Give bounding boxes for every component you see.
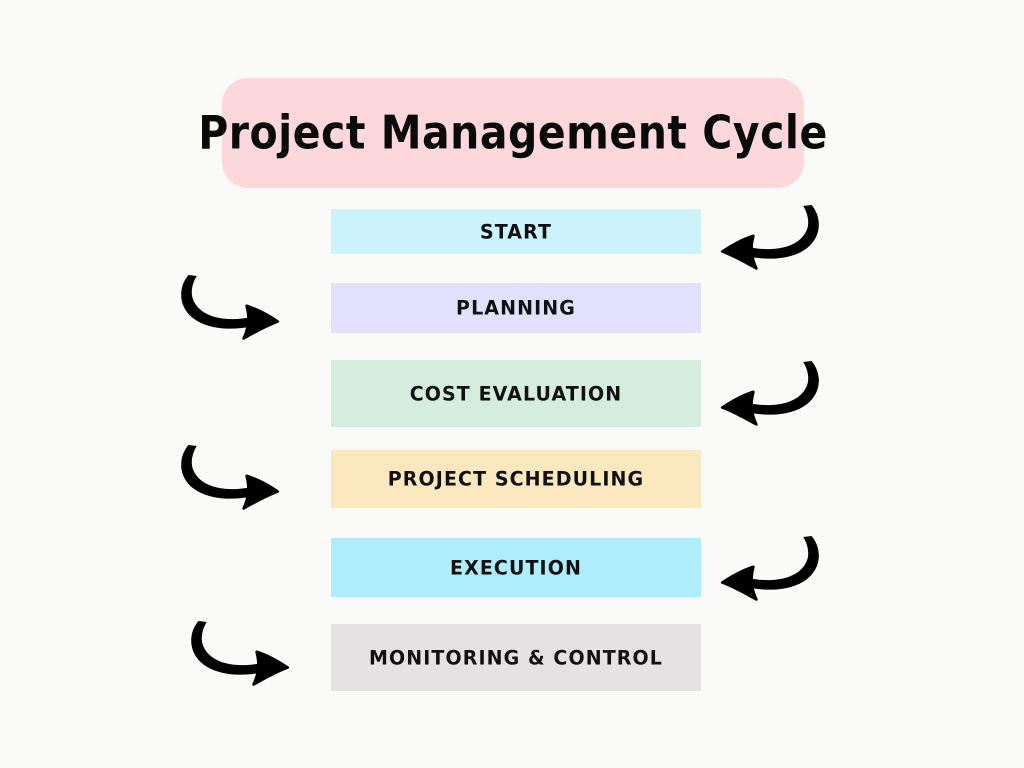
- curved-arrow-right-1-icon: [172, 272, 282, 344]
- process-step-bar[interactable]: START: [331, 209, 701, 254]
- process-step-bar[interactable]: EXECUTION: [331, 538, 701, 597]
- process-step-label: PROJECT SCHEDULING: [388, 467, 644, 490]
- process-step-label: EXECUTION: [450, 556, 582, 579]
- curved-arrow-left-2-icon: [718, 358, 828, 430]
- curved-arrow-left-3-icon: [718, 533, 828, 605]
- infographic-canvas: Project Management Cycle STARTPLANNINGCO…: [0, 0, 1024, 768]
- process-step-bar[interactable]: PROJECT SCHEDULING: [331, 450, 701, 508]
- process-step-label: COST EVALUATION: [410, 382, 623, 405]
- process-step-bar[interactable]: PLANNING: [331, 283, 701, 333]
- title-banner: Project Management Cycle: [222, 78, 804, 188]
- process-step-bar[interactable]: MONITORING & CONTROL: [331, 624, 701, 691]
- page-title: Project Management Cycle: [198, 106, 828, 160]
- process-step-label: START: [480, 220, 552, 243]
- curved-arrow-left-1-icon: [718, 202, 828, 274]
- curved-arrow-right-3-icon: [182, 618, 292, 690]
- process-step-bar[interactable]: COST EVALUATION: [331, 360, 701, 427]
- curved-arrow-right-2-icon: [172, 442, 282, 514]
- process-step-label: PLANNING: [456, 296, 576, 319]
- process-step-label: MONITORING & CONTROL: [369, 646, 663, 669]
